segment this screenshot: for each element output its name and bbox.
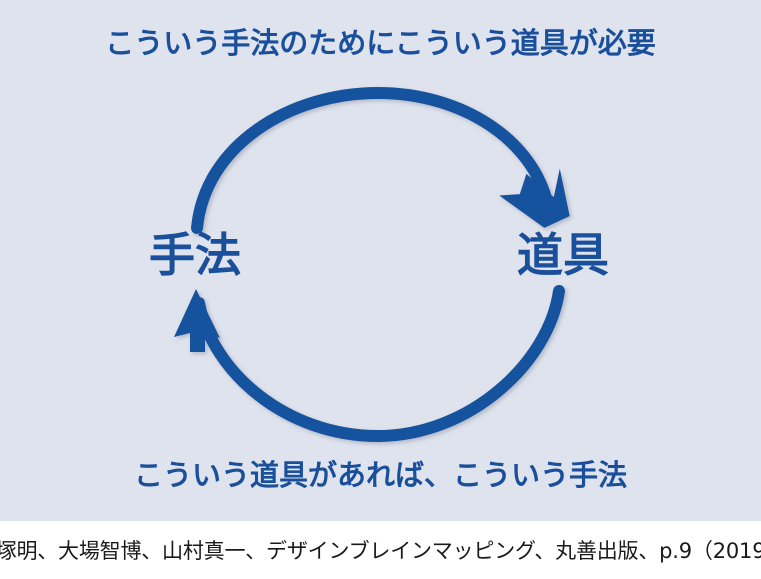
node-label-tool: 道具: [463, 232, 663, 278]
top-caption: こういう手法のためにこういう道具が必要: [0, 26, 761, 61]
bottom-caption: こういう道具があれば、こういう手法: [0, 458, 761, 493]
source-citation: 手塚明、大場智博、山村真一、デザインブレインマッピング、丸善出版、p.9（201…: [0, 535, 761, 565]
diagram-area: こういう手法のためにこういう道具が必要 手法 道具 こういう道具があれば、こうい…: [0, 0, 761, 521]
source-band: 手塚明、大場智博、山村真一、デザインブレインマッピング、丸善出版、p.9（201…: [0, 521, 761, 579]
arrow-path-tool-to-method: [199, 291, 559, 436]
arrow-path-method-to-tool: [197, 93, 548, 228]
slide-page: こういう手法のためにこういう道具が必要 手法 道具 こういう道具があれば、こうい…: [0, 0, 761, 579]
node-label-method: 手法: [95, 232, 295, 278]
